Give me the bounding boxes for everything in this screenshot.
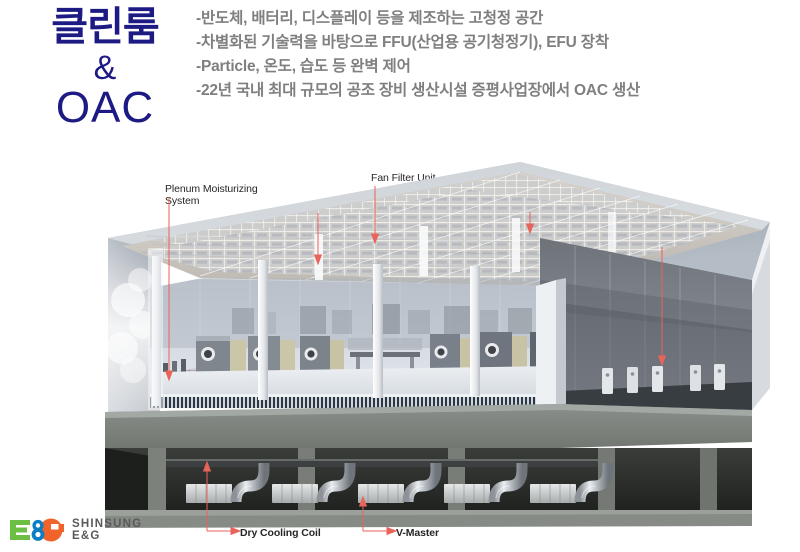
page-title: 클린룸 & OAC: [0, 4, 210, 132]
title-line-ampersand: &: [0, 48, 210, 88]
bullet-item-2: -차별화된 기술력을 바탕으로 FFU(산업용 공기청정기), EFU 장착: [196, 31, 796, 55]
logo-text-line-1: SHINSUNG: [72, 518, 142, 530]
bullet-item-4: -22년 국내 최대 규모의 공조 장비 생산시설 증평사업장에서 OAC 생산: [196, 79, 796, 103]
cleanroom-cutaway-illustration: [0, 160, 800, 552]
bullet-item-1: -반도체, 배터리, 디스플레이 등을 제조하는 고청정 공간: [196, 7, 796, 31]
company-logo: SHINSUNG E&G: [10, 518, 142, 542]
shinsung-logo-mark: [10, 518, 66, 542]
basement-structure: [105, 404, 752, 528]
slide-canvas: 클린룸 & OAC -반도체, 배터리, 디스플레이 등을 제조하는 고청정 공…: [0, 0, 800, 552]
title-line-oac: OAC: [0, 84, 210, 132]
logo-wordmark: SHINSUNG E&G: [72, 518, 142, 542]
bullet-item-3: -Particle, 온도, 습도 등 완벽 제어: [196, 55, 796, 79]
bullet-list: -반도체, 배터리, 디스플레이 등을 제조하는 고청정 공간 -차별화된 기술…: [196, 7, 796, 103]
cleanroom-interior: [150, 278, 560, 410]
logo-text-line-2: E&G: [72, 530, 142, 542]
title-line-cleanroom: 클린룸: [0, 4, 210, 50]
